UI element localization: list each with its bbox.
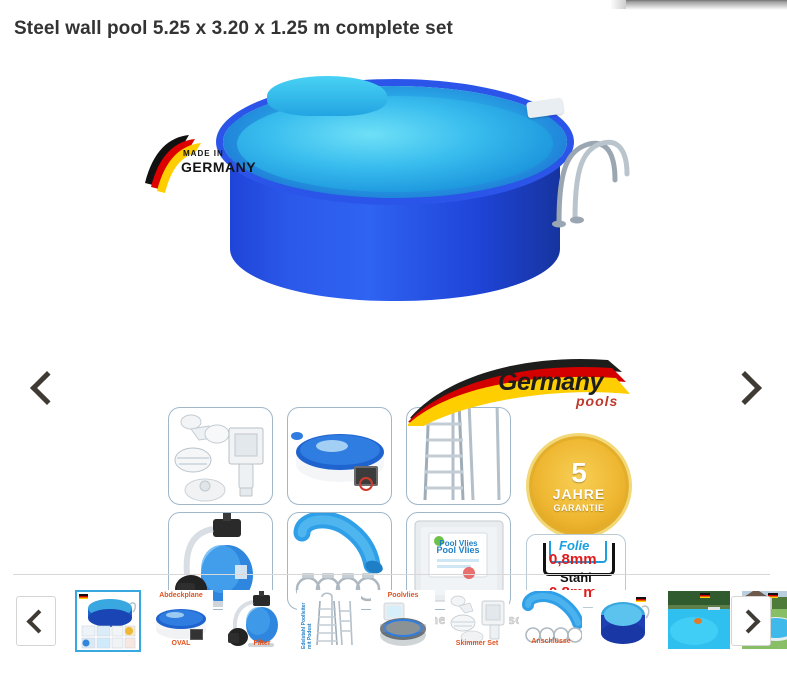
thumbnail-sub-label: Filter [238,640,286,647]
chevron-right-icon [736,609,760,633]
pool-illustration [205,74,625,334]
accessory-tile-skimmer-set [168,407,273,505]
germany-pools-logo: Germany pools [408,356,636,426]
warranty-word: GARANTIE [554,503,605,513]
thumbnail-sub-label: Anschlüsse [520,638,582,645]
top-partial-bar [626,0,787,10]
thumbnail-list[interactable]: Abdeckplane OVAL Filter [65,590,725,652]
strip-prev-button[interactable] [16,596,56,646]
thumbnail-item-anschluesse[interactable]: Anschlüsse [519,590,583,650]
thumbnail-item-complete-set[interactable] [75,590,141,652]
poolvlies-thumb-icon [372,591,434,649]
page-title: Steel wall pool 5.25 x 3.20 x 1.25 m com… [14,18,453,40]
pool-handrail-icon [549,110,635,230]
chevron-right-icon [728,371,762,405]
pool-photo-thumb-icon [668,591,730,649]
pool-step-area [267,76,387,116]
thumbnail-item-filter[interactable]: Filter [223,590,287,650]
chevron-left-icon [26,609,50,633]
thumbnail-item-skimmer-set[interactable]: Skimmer Set [445,590,509,650]
pool-render-thumb-icon [594,591,656,649]
thumbnail-sub-label: OVAL [150,640,212,647]
made-in-germany-badge: MADE IN GERMANY [143,131,248,193]
thumbnail-item-abdeckplane[interactable]: Abdeckplane OVAL [149,590,213,650]
strip-next-button[interactable] [731,596,771,646]
thumbnail-item-pool-photo-1[interactable] [667,590,731,650]
thumbnail-item-pool-render[interactable] [593,590,657,650]
made-in-line2: GERMANY [181,159,256,175]
thumbnail-item-leiter[interactable]: Edelstahl Poolleiter mit Podest [297,590,361,650]
made-in-line1: MADE IN [183,149,224,158]
thumbnail-strip[interactable]: Abdeckplane OVAL Filter [13,586,773,656]
warranty-number: 5 [571,459,587,487]
accessory-tile-pool-cover-tarp [287,407,392,505]
brand-sub: pools [576,393,618,409]
thumbnail-label: Poolvlies [372,592,434,599]
skimmer-set-icon [169,408,272,504]
pool-vlies-caption: Pool Vlies [407,539,510,548]
gallery-stage[interactable]: MADE IN GERMANY [10,56,777,569]
thumbnail-sub-label: Skimmer Set [446,640,508,647]
gallery-prev-button[interactable] [18,362,70,414]
gallery-divider [13,574,770,575]
gallery-next-button[interactable] [721,362,773,414]
chevron-left-icon [30,371,64,405]
main-product-image[interactable]: MADE IN GERMANY [10,56,777,569]
pool-cover-icon [288,408,391,504]
warranty-seal-badge: 5 JAHRE GARANTIE [529,436,629,536]
warranty-years: JAHRE [553,487,605,502]
thumbnail-sub-label: Edelstahl Poolleiter mit Podest [301,597,313,649]
complete-set-thumb-icon [77,592,139,650]
folie-value: 0,8mm [549,551,597,568]
stahl-label: Stahl [560,570,592,585]
thumbnail-label: Abdeckplane [150,592,212,599]
thumbnail-item-poolvlies[interactable]: Poolvlies [371,590,435,650]
